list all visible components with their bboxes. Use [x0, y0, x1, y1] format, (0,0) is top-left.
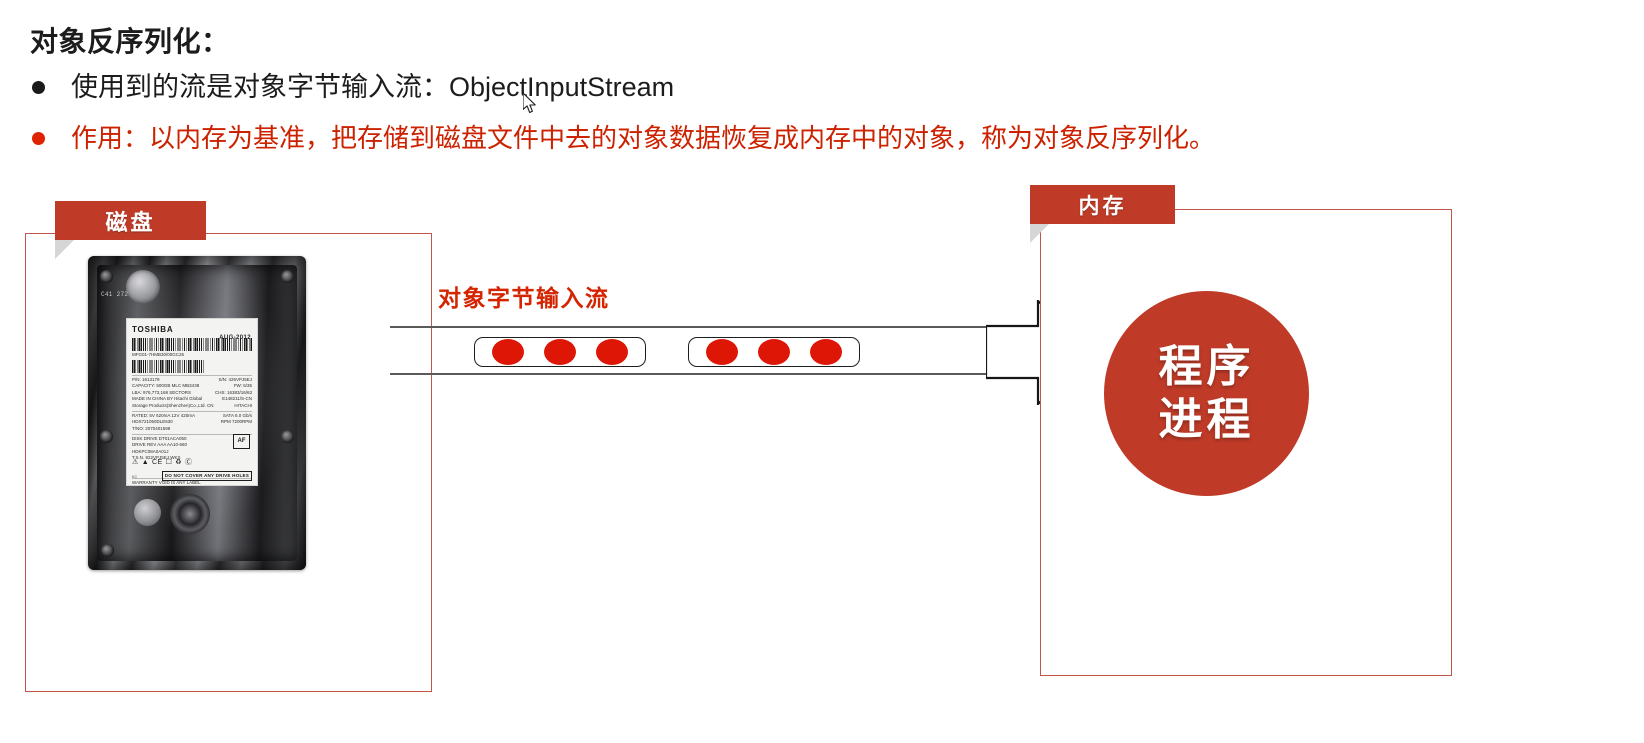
hdd-spec-right: RPM 7200RPM	[221, 419, 252, 426]
program-process-circle: 程序 进程	[1104, 291, 1309, 496]
actuator-cap-icon	[134, 499, 161, 526]
screw-icon	[100, 270, 113, 283]
process-line-1: 程序	[1159, 341, 1255, 394]
hdd-spec-row: T.S.N. 822VPJ5EJ WKS	[132, 455, 252, 462]
breather-cap-icon	[126, 270, 160, 304]
hdd-spec-row: CAPACITY: 500GB MLC MB3438 FW: 6/35	[132, 383, 252, 390]
hdd-model-line: MFG01-7HMB30/00GC25	[132, 352, 252, 359]
process-line-2: 进程	[1159, 394, 1255, 447]
hdd-spec-right: CHS: 16383/16/63	[215, 390, 252, 397]
hdd-spec-right: S/N: 426VPJ5EJ	[218, 377, 252, 384]
disk-banner-fold-icon	[55, 240, 74, 259]
hdd-spec-row: T/NO: 2070401599	[132, 426, 252, 433]
divider	[132, 434, 252, 435]
bullet-item-1: 使用到的流是对象字节输入流：ObjectInputStream	[32, 72, 674, 103]
hdd-spec-row: P/N: 1613179 S/N: 426VPJ5EJ	[132, 377, 252, 384]
hdd-spec-row: RATED: 5V 620mA 12V 420mA SATA 6.0 Gb/s	[132, 413, 252, 420]
screw-icon	[281, 430, 294, 443]
memory-banner-fold-icon	[1030, 224, 1049, 243]
hdd-label: TOSHIBA AUG-2012 MFG01-7HMB30/00GC25 P/N…	[126, 318, 258, 486]
advanced-format-badge: AF	[233, 434, 250, 449]
hdd-spec-row: Storage Products(Shenzhen)Co.,Ltd. CN HI…	[132, 403, 252, 410]
barcode-icon	[132, 360, 204, 373]
page-title: 对象反序列化：	[30, 20, 230, 60]
kc-mark-icon: KC	[132, 475, 137, 480]
data-dot-icon	[492, 339, 524, 365]
data-dot-icon	[544, 339, 576, 365]
hdd-brand: TOSHIBA	[132, 324, 252, 336]
certification-marks: ⚠ ▲ CE ☐ ♻ Ⓒ	[132, 458, 252, 468]
hdd-spec-left: P/N: 1613179	[132, 377, 160, 384]
ce-mark-icon: CE	[152, 458, 163, 468]
divider	[132, 411, 252, 412]
hdd-spec-left: MADE IN CHINA BY Hitachi Global	[132, 396, 202, 403]
ce-mark-icon: ☐	[166, 458, 173, 468]
memory-panel	[1040, 209, 1452, 676]
hdd-spec-right: FW: 6/35	[234, 383, 252, 390]
divider	[132, 478, 252, 479]
hdd-spec-left: LBA: 976,773,168 SECTORS	[132, 390, 191, 397]
hdd-corner-code: C41 272	[101, 292, 128, 299]
barcode-icon	[132, 338, 252, 351]
screw-icon	[101, 544, 114, 557]
bullet-item-2-text: 作用：以内存为基准，把存储到磁盘文件中去的对象数据恢复成内存中的对象，称为对象反…	[71, 124, 1215, 154]
disk-banner-label: 磁盘	[55, 201, 206, 240]
hdd-date-code: AUG-2012	[219, 334, 251, 343]
hard-disk-drive-image: C41 272 TOSHIBA AUG-2012 MFG01-7HMB30/00…	[88, 256, 306, 570]
stream-label: 对象字节输入流	[438, 279, 610, 313]
bullet-item-2: 作用：以内存为基准，把存储到磁盘文件中去的对象数据恢复成内存中的对象，称为对象反…	[32, 124, 1215, 154]
disk-panel	[25, 233, 432, 692]
stream-pipe-top-edge	[390, 326, 1018, 328]
hdd-spec-left: HDS721050DLE630	[132, 419, 173, 426]
flow-arrow-icon	[986, 300, 1094, 405]
packet-group	[474, 337, 646, 367]
hdd-spec-row: MADE IN CHINA BY Hitachi Global E148211/…	[132, 396, 252, 403]
data-dot-icon	[758, 339, 790, 365]
ce-mark-icon: ▲	[142, 458, 149, 468]
hdd-spec-right: E148211/S-CN	[222, 396, 252, 403]
hdd-spec-row: DRIVE REV AAA AA10-660	[132, 442, 252, 449]
screw-icon	[281, 270, 294, 283]
memory-banner-label: 内存	[1030, 185, 1175, 224]
data-dot-icon	[596, 339, 628, 365]
bullet-item-1-text: 使用到的流是对象字节输入流：ObjectInputStream	[71, 72, 674, 103]
hdd-spec-right: HITACHI	[234, 403, 252, 410]
screw-icon	[100, 430, 113, 443]
hdd-spec-row: HDS721050DLE630 RPM 7200RPM	[132, 419, 252, 426]
hdd-warranty-line-1: WARRANTY VOID IS ANY LABEL	[132, 480, 252, 486]
weee-icon: ♻	[175, 458, 182, 468]
recycle-icon: Ⓒ	[185, 458, 192, 468]
ce-mark-icon: ⚠	[132, 458, 139, 468]
hdd-spec-left: RATED: 5V 620mA 12V 420mA	[132, 413, 195, 420]
bullet-marker-icon	[32, 132, 45, 145]
data-dot-icon	[706, 339, 738, 365]
bullet-marker-icon	[32, 81, 45, 94]
hdd-spec-left: CAPACITY: 500GB MLC MB3438	[132, 383, 199, 390]
mouse-cursor-icon	[523, 93, 539, 115]
hdd-spec-left: Storage Products(Shenzhen)Co.,Ltd. CN	[132, 403, 214, 410]
stream-pipe-bottom-edge	[390, 373, 1018, 375]
hdd-spec-right: SATA 6.0 Gb/s	[223, 413, 252, 420]
hdd-spec-row: HDKPC08A0A01J	[132, 449, 252, 456]
hdd-spec-row: LBA: 976,773,168 SECTORS CHS: 16383/16/6…	[132, 390, 252, 397]
packet-group	[688, 337, 860, 367]
deserialization-diagram: 磁盘 C41 272 TOSHIBA AUG-2012 MFG01-7HMB30…	[0, 0, 1644, 743]
data-dot-icon	[810, 339, 842, 365]
hdd-spec-row: DISK DRIVE DT01ACA050	[132, 436, 252, 443]
spindle-icon	[170, 494, 210, 534]
divider	[132, 375, 252, 376]
cover-warning-text: DO NOT COVER ANY DRIVE HOLES	[162, 471, 252, 481]
